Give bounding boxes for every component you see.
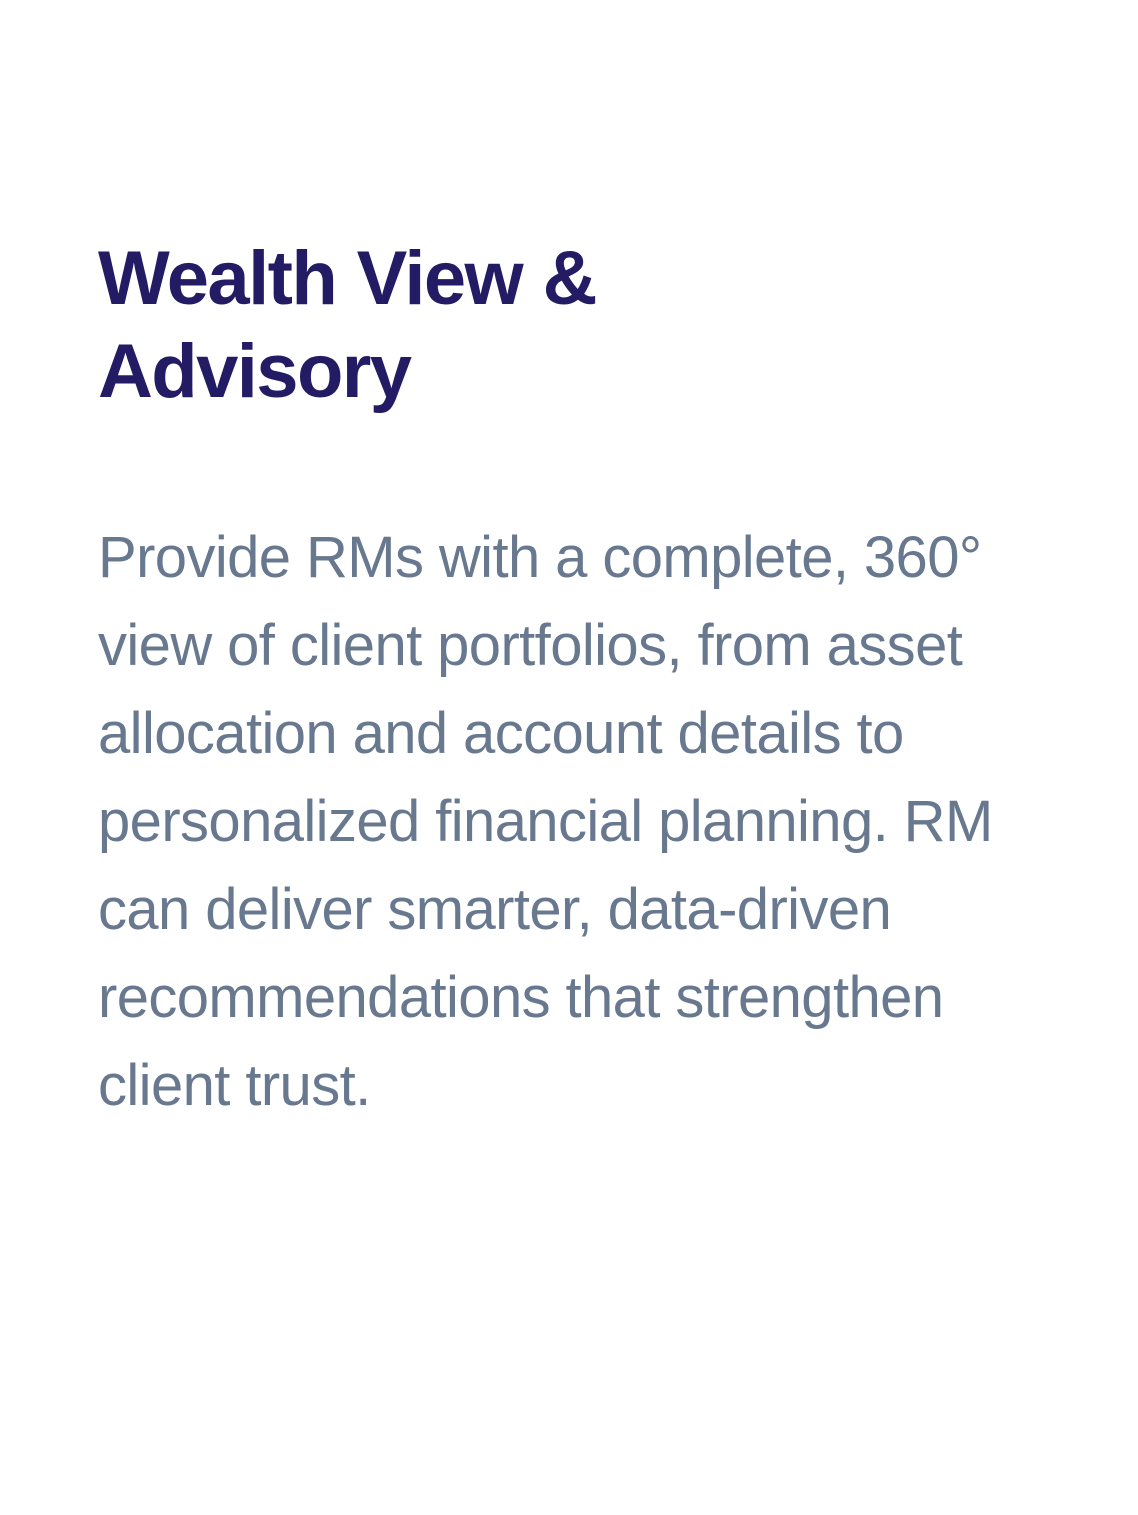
feature-card: Wealth View & Advisory Provide RMs with … (0, 0, 1138, 1515)
page-title: Wealth View & Advisory (98, 232, 718, 418)
card-description: Provide RMs with a complete, 360° view o… (98, 514, 998, 1130)
